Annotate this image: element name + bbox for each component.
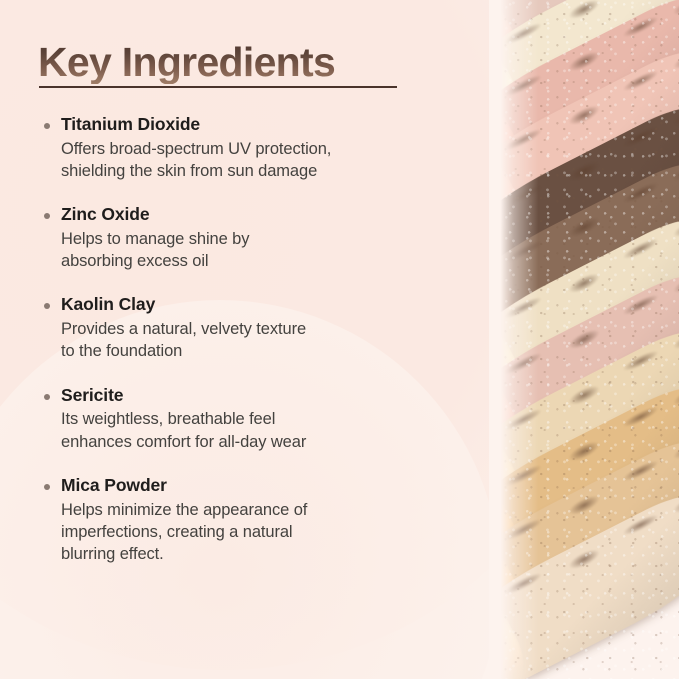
- ingredient-item: SericiteIts weightless, breathable feel …: [38, 385, 458, 453]
- title-underline: [39, 86, 397, 88]
- ingredients-panel: Key Ingredients Titanium DioxideOffers b…: [0, 0, 470, 679]
- ingredient-item: Kaolin ClayProvides a natural, velvety t…: [38, 294, 458, 362]
- page-title: Key Ingredients: [38, 40, 398, 84]
- bullet-icon: [44, 394, 50, 400]
- ingredient-item: Mica PowderHelps minimize the appearance…: [38, 475, 458, 565]
- bullet-icon: [44, 213, 50, 219]
- bullet-icon: [44, 303, 50, 309]
- ingredient-description: Its weightless, breathable feel enhances…: [61, 408, 458, 452]
- ingredient-description: Helps to manage shine by absorbing exces…: [61, 228, 458, 272]
- ingredient-item: Titanium DioxideOffers broad-spectrum UV…: [38, 114, 458, 182]
- page-title-wrap: Key Ingredients: [38, 40, 398, 84]
- poster-canvas: Key Ingredients Titanium DioxideOffers b…: [0, 0, 679, 679]
- ingredient-description: Provides a natural, velvety texture to t…: [61, 318, 458, 362]
- ingredient-name: Sericite: [61, 385, 458, 407]
- ingredient-description: Offers broad-spectrum UV protection, shi…: [61, 138, 458, 182]
- ingredients-list: Titanium DioxideOffers broad-spectrum UV…: [38, 114, 458, 565]
- ingredient-name: Kaolin Clay: [61, 294, 458, 316]
- ingredient-name: Mica Powder: [61, 475, 458, 497]
- ingredient-description: Helps minimize the appearance of imperfe…: [61, 499, 458, 565]
- bullet-icon: [44, 484, 50, 490]
- ingredient-name: Titanium Dioxide: [61, 114, 458, 136]
- bullet-icon: [44, 123, 50, 129]
- ingredient-item: Zinc OxideHelps to manage shine by absor…: [38, 204, 458, 272]
- powder-swatch-image: [489, 0, 679, 679]
- ingredient-name: Zinc Oxide: [61, 204, 458, 226]
